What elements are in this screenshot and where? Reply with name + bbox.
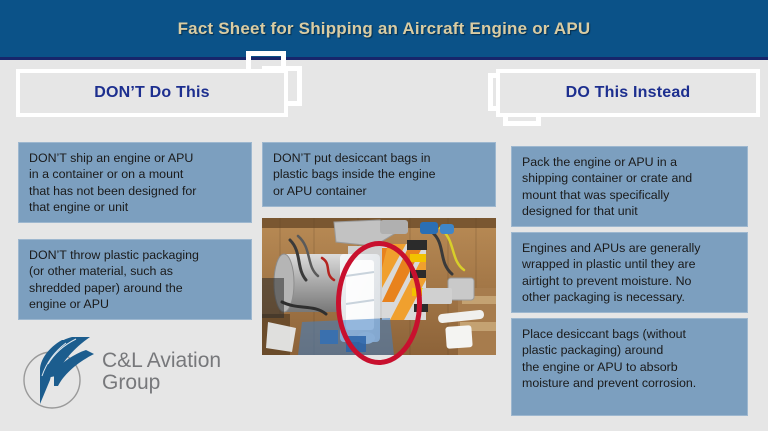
red-highlight-circle: [336, 241, 422, 365]
column-header-do: DO This Instead: [496, 69, 760, 117]
column-header-do-label: DO This Instead: [566, 84, 691, 102]
do-item-2: Engines and APUs are generally wrapped i…: [511, 232, 748, 313]
company-logo-text: C&L Aviation Group: [102, 350, 221, 394]
dont-item-3: DON’T put desiccant bags in plastic bags…: [262, 142, 496, 207]
dont-item-1: DON’T ship an engine or APU in a contain…: [18, 142, 252, 223]
do-item-1: Pack the engine or APU in a shipping con…: [511, 146, 748, 227]
company-logo: C&L Aviation Group: [20, 336, 250, 412]
do-item-3: Place desiccant bags (without plastic pa…: [511, 318, 748, 416]
page-title: Fact Sheet for Shipping an Aircraft Engi…: [0, 19, 768, 39]
dont-item-2: DON’T throw plastic packaging (or other …: [18, 239, 252, 320]
column-header-dont-label: DON’T Do This: [94, 84, 209, 102]
column-header-dont: DON’T Do This: [16, 69, 288, 117]
cl-aviation-wing-icon: [20, 336, 98, 412]
